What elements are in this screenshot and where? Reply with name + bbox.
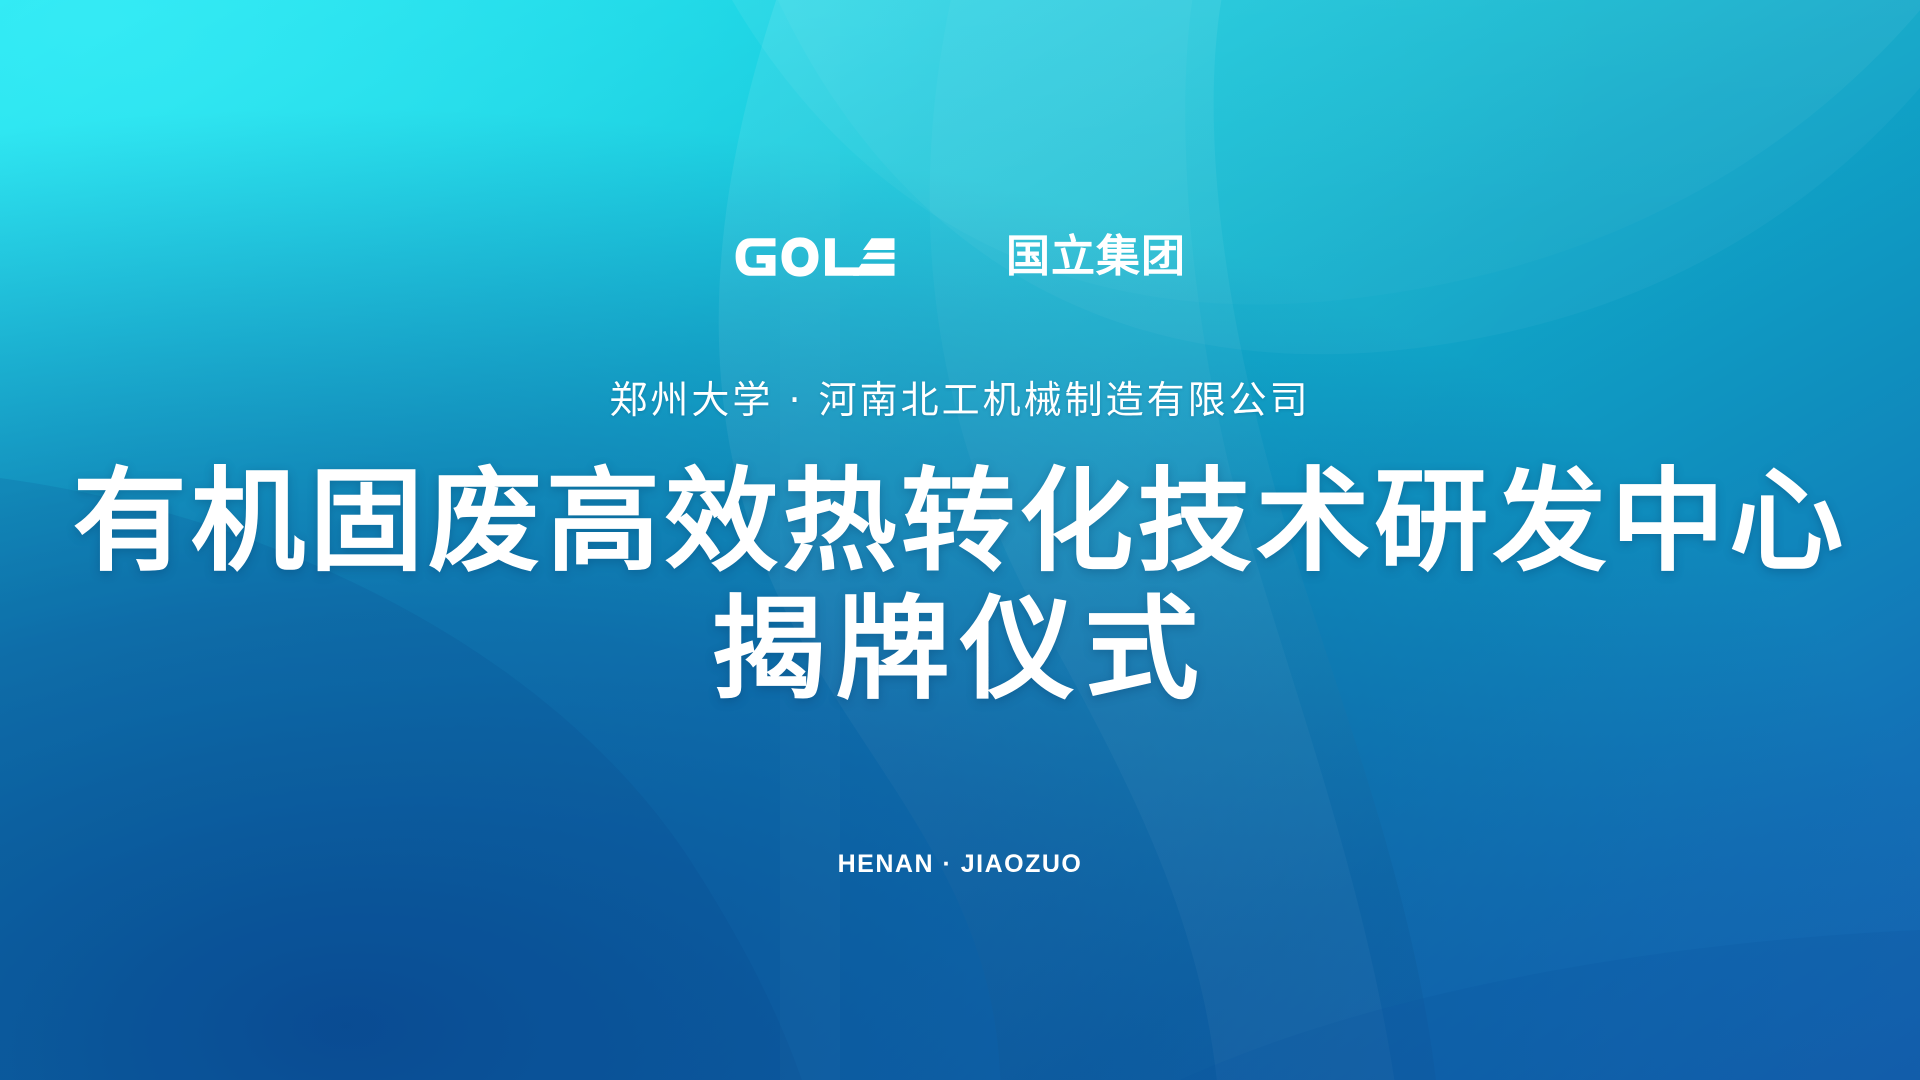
main-title-line-2: 揭牌仪式 (0, 586, 1920, 714)
title-slide: 国立集团 郑州大学 · 河南北工机械制造有限公司 有机固废高效热转化技术研发中心… (0, 0, 1920, 1080)
logo-chinese-name: 国立集团 (1006, 235, 1186, 279)
main-title-line-1: 有机固废高效热转化技术研发中心 (0, 458, 1920, 586)
location-footer: HENAN · JIAOZUO (0, 848, 1920, 880)
main-title: 有机固废高效热转化技术研发中心 揭牌仪式 (0, 458, 1920, 714)
brand-logo: 国立集团 (0, 228, 1920, 286)
gole-wordmark-icon (734, 232, 984, 282)
organizations-subtitle: 郑州大学 · 河南北工机械制造有限公司 (0, 377, 1920, 423)
